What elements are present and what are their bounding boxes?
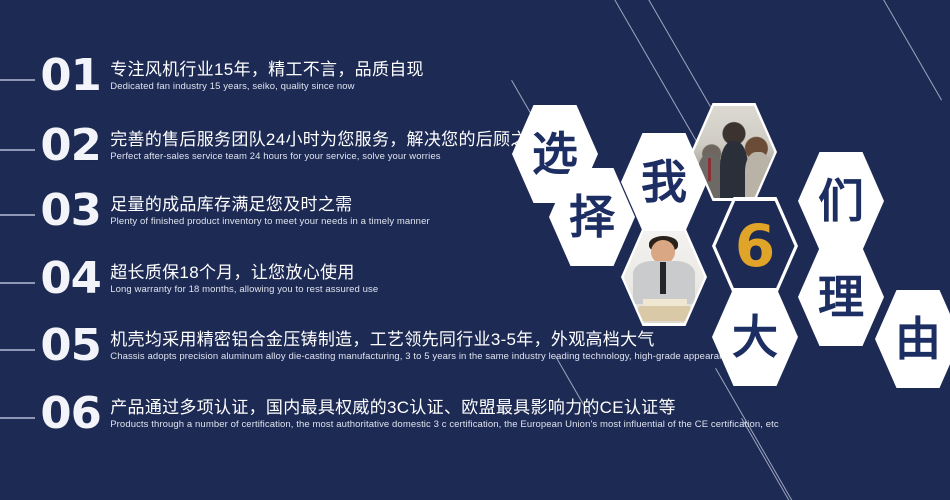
hex-glyph: 理 — [818, 274, 864, 320]
hex-glyph: 择 — [569, 194, 615, 240]
hex-glyph: 们 — [818, 178, 864, 224]
banner-canvas: 01 专注风机行业15年，精工不言，品质自现 Dedicated fan ind… — [0, 0, 950, 500]
hex-tile-you: 由 — [875, 290, 950, 388]
hex-glyph: 我 — [641, 159, 687, 205]
hexagon-cluster: 选 择 我 们 — [0, 0, 950, 500]
hex-number-six: 6 — [735, 217, 775, 275]
hex-tile-da: 大 — [712, 288, 798, 386]
hex-tile-number-six: 6 — [712, 197, 798, 295]
hex-glyph: 大 — [732, 314, 778, 360]
hex-tile-li: 理 — [798, 248, 884, 346]
hex-tile-men: 们 — [798, 152, 884, 250]
businessman-image — [624, 231, 705, 323]
hex-glyph: 由 — [895, 316, 941, 362]
hex-photo-businessman — [621, 228, 707, 326]
team-meeting-image — [694, 106, 775, 198]
